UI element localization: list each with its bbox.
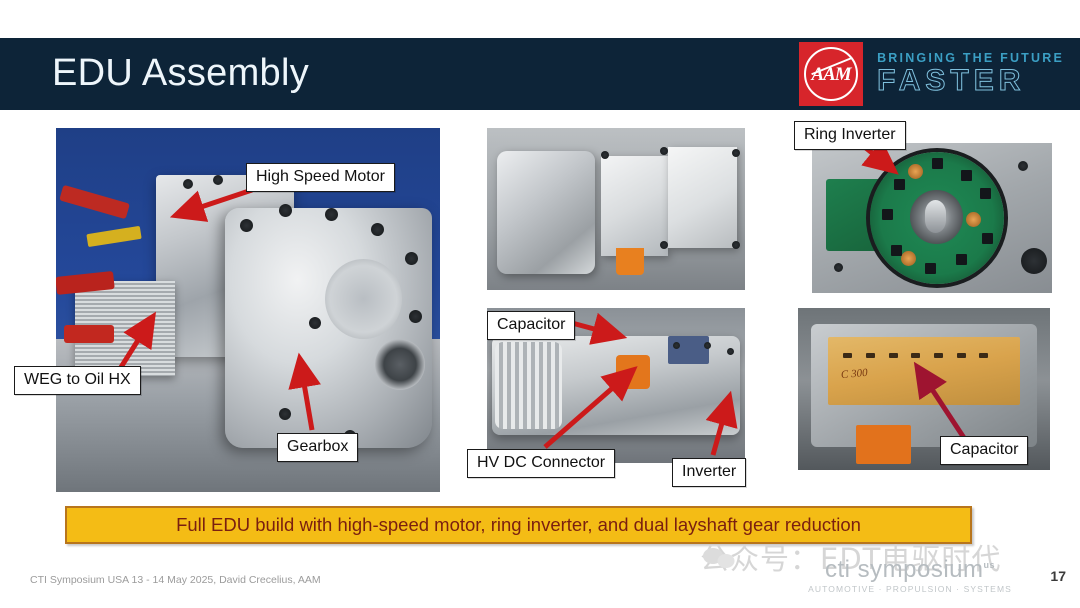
photo-ring-inverter <box>812 143 1052 293</box>
bolt <box>279 408 291 420</box>
capacitor-plate <box>668 147 738 247</box>
power-module-chip <box>894 179 905 190</box>
brand-tagline: BRINGING THE FUTURE <box>877 51 1064 65</box>
bolt <box>673 342 680 349</box>
callout-weg-to-oil-hx: WEG to Oil HX <box>14 366 141 395</box>
power-module-chip <box>925 263 936 274</box>
power-module-chip <box>891 245 902 256</box>
callout-gearbox: Gearbox <box>277 433 358 462</box>
power-module-chip <box>961 170 972 181</box>
inverter-module <box>668 336 709 364</box>
photo-edu-top-view <box>487 128 745 290</box>
callout-hv-dc-connector: HV DC Connector <box>467 449 615 478</box>
cti-logo-tagline: AUTOMOTIVE · PROPULSION · SYSTEMS <box>800 584 1020 594</box>
callout-ring-inverter: Ring Inverter <box>794 121 906 150</box>
gearbox-top <box>497 151 595 274</box>
cti-symposium-logo: cti symposiumus AUTOMOTIVE · PROPULSION … <box>800 552 1020 594</box>
page-title: EDU Assembly <box>52 50 309 96</box>
board-pin <box>911 353 920 358</box>
brand-wordmark: FASTER <box>877 65 1064 97</box>
callout-inverter: Inverter <box>672 458 746 487</box>
inverter-plate <box>601 156 668 256</box>
aam-logo-circle: AAM <box>804 47 858 101</box>
cti-logo-sup: us <box>984 560 996 570</box>
power-module-chip <box>956 254 967 265</box>
board-marking: C 300 <box>840 367 868 381</box>
board-pin <box>979 353 988 358</box>
output-hub <box>375 339 425 390</box>
board-pin <box>957 353 966 358</box>
motor-cylinder <box>495 342 562 429</box>
power-module-chip <box>982 233 993 244</box>
bolt <box>601 151 609 159</box>
callout-capacitor-center: Capacitor <box>487 311 575 340</box>
red-fitting-2 <box>64 325 114 343</box>
slide-canvas: EDU Assembly AAM BRINGING THE FUTURE FAS… <box>0 0 1080 608</box>
footer-note: CTI Symposium USA 13 - 14 May 2025, Davi… <box>30 574 321 586</box>
power-module-chip <box>980 188 991 199</box>
bolt <box>704 342 711 349</box>
housing-hole <box>834 263 843 272</box>
bolt <box>371 223 384 236</box>
aam-logo-mark: AAM <box>799 42 863 106</box>
page-number: 17 <box>1050 568 1066 584</box>
board-pin <box>934 353 943 358</box>
orange-connector <box>616 248 644 276</box>
bolt <box>325 208 338 221</box>
copper-terminal <box>908 164 923 179</box>
housing-bore <box>1021 248 1047 274</box>
aam-logo: AAM BRINGING THE FUTURE FASTER <box>799 42 1064 106</box>
gearbox-cover-face <box>325 259 402 339</box>
orange-hv-connector <box>856 425 911 464</box>
copper-terminal <box>966 212 981 227</box>
board-pin <box>889 353 898 358</box>
shaft-end <box>925 200 947 233</box>
summary-banner-text: Full EDU build with high-speed motor, ri… <box>176 515 861 535</box>
power-module-chip <box>932 158 943 169</box>
cti-logo-name: cti symposiumus <box>800 552 1020 583</box>
cti-logo-text: cti symposium <box>825 556 984 583</box>
aam-logo-text: BRINGING THE FUTURE FASTER <box>863 42 1064 106</box>
board-pin <box>866 353 875 358</box>
callout-capacitor-right: Capacitor <box>940 436 1028 465</box>
power-module-chip <box>882 209 893 220</box>
gearbox-housing <box>225 208 432 448</box>
bolt <box>183 179 193 189</box>
wechat-icon <box>702 546 736 570</box>
board-pin <box>843 353 852 358</box>
hv-dc-connector-orange <box>616 355 650 389</box>
callout-high-speed-motor: High Speed Motor <box>246 163 395 192</box>
copper-terminal <box>901 251 916 266</box>
